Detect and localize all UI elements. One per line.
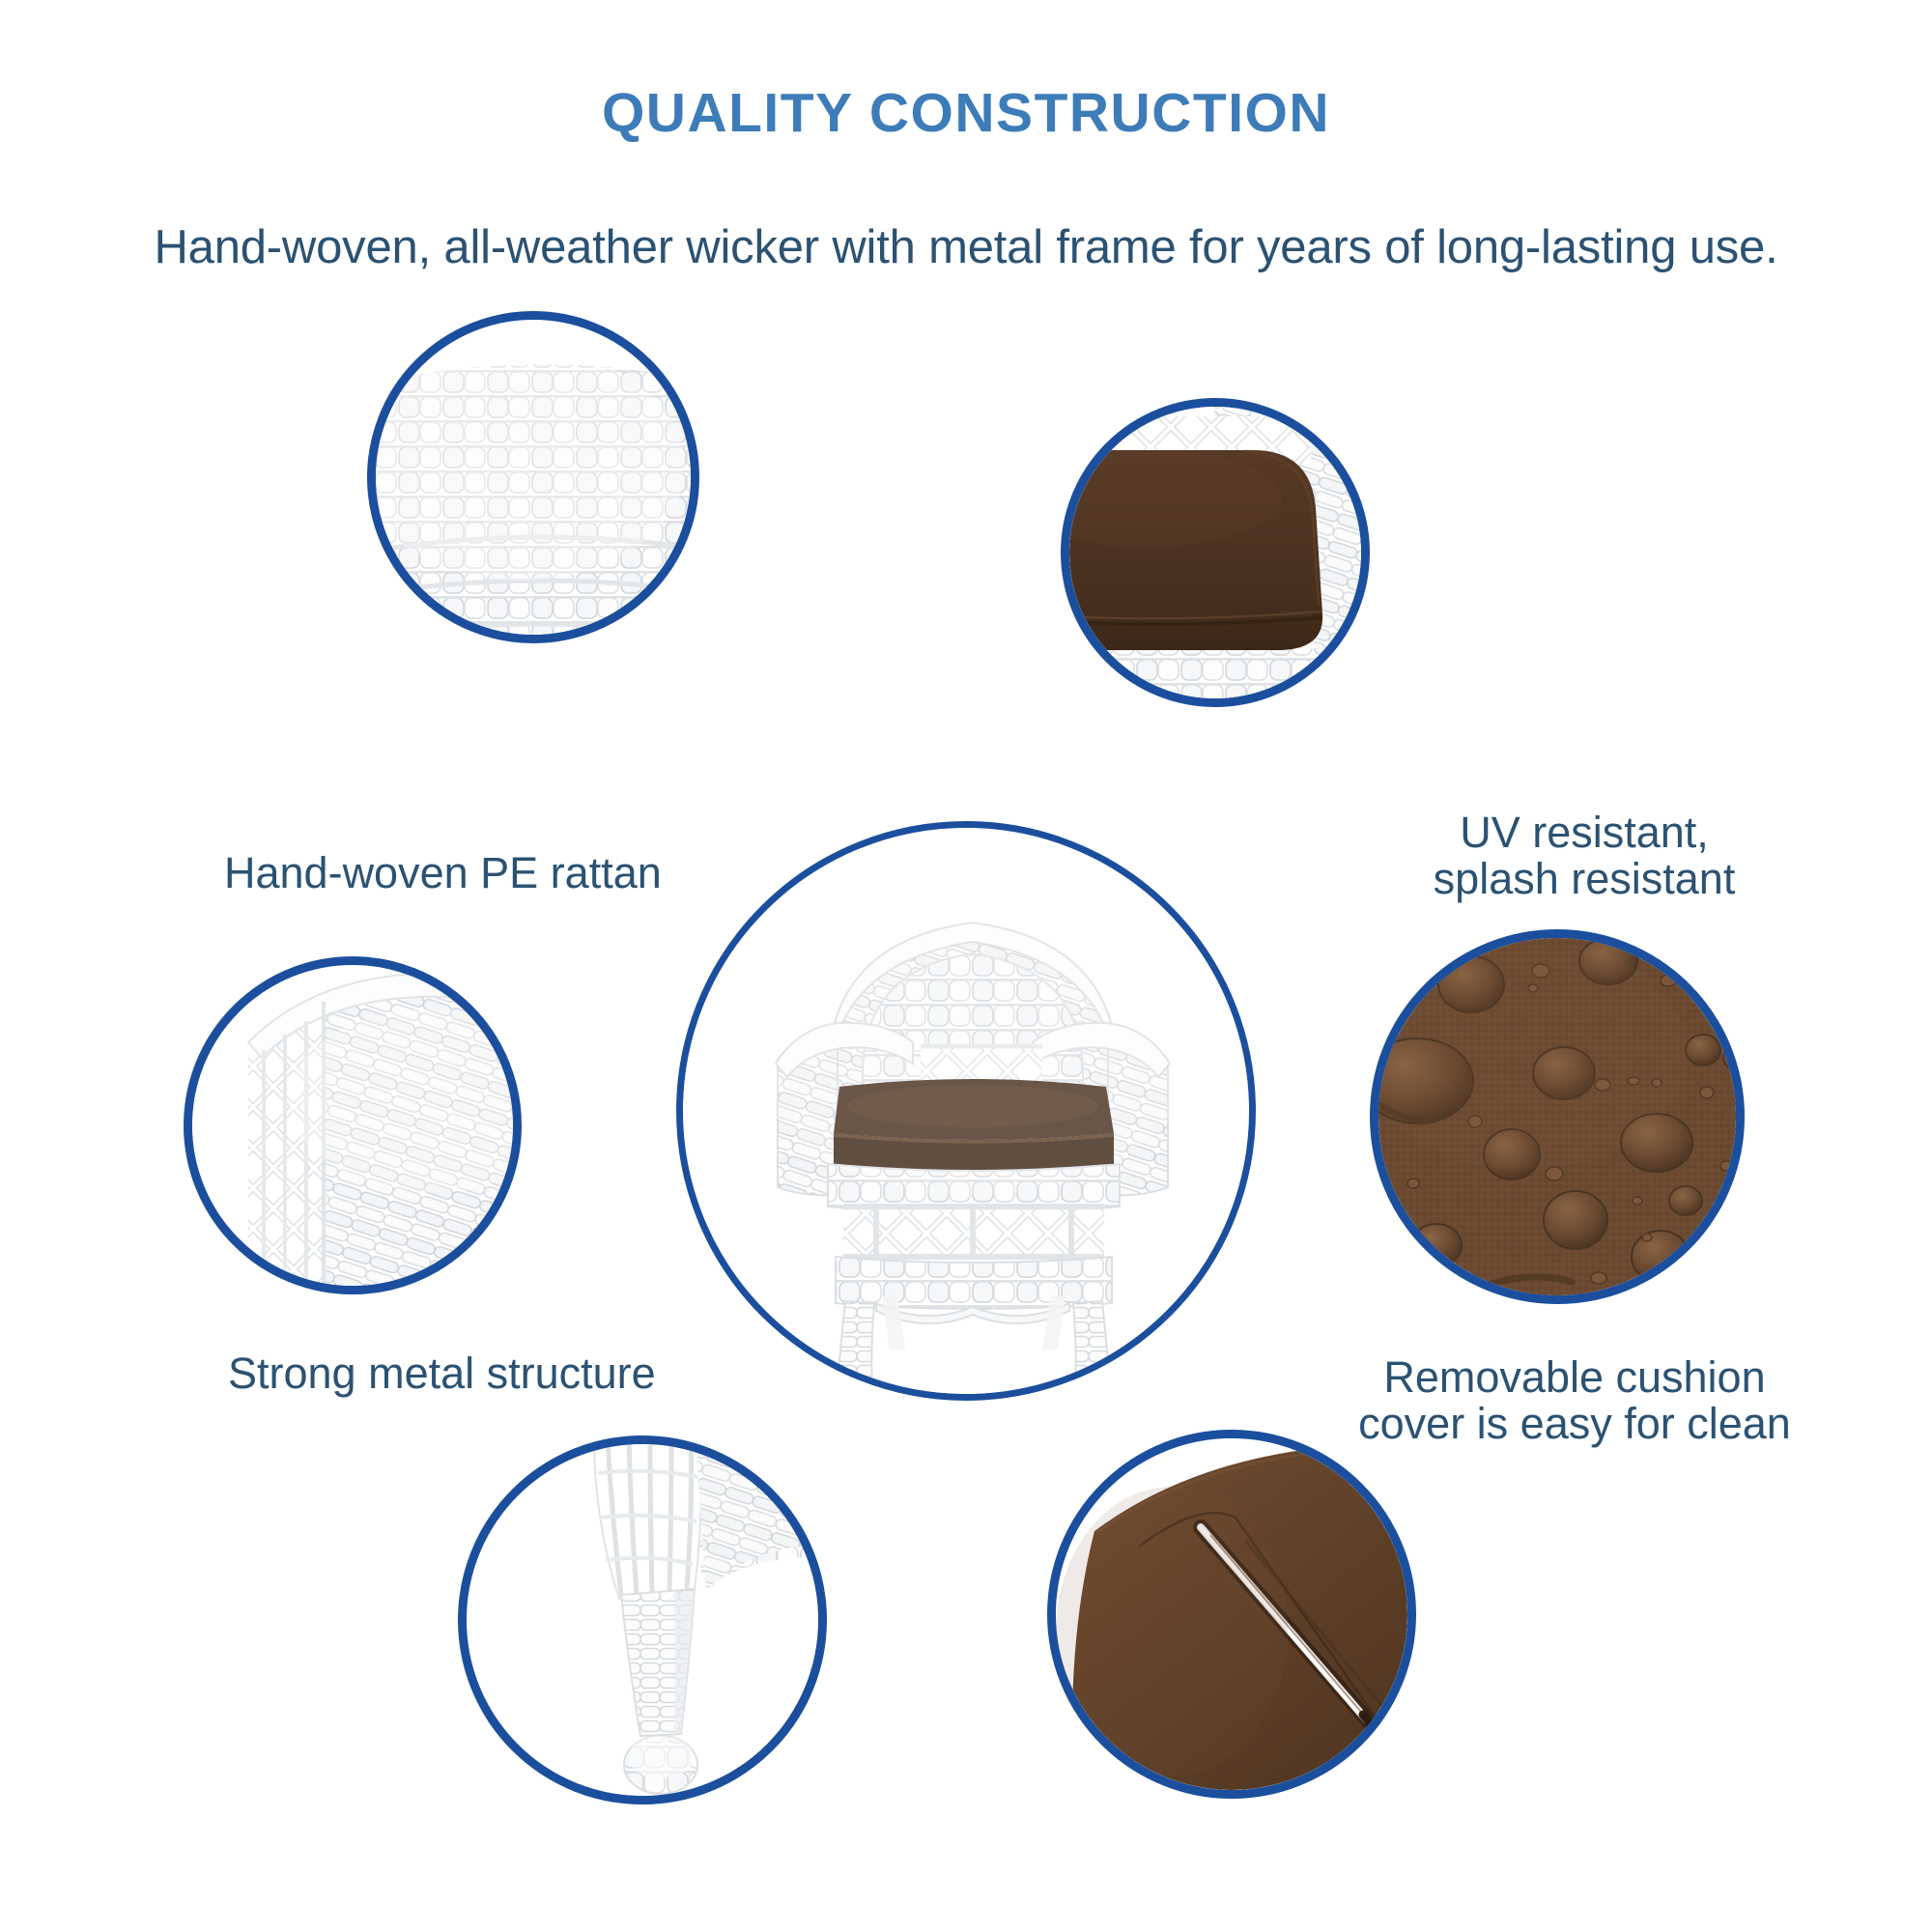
caption-hand-woven-pe-rattan: Hand-woven PE rattan [224,850,726,896]
caption-uv-splash-resistant: UV resistant, splash resistant [1381,810,1787,901]
water-droplets-image [1378,938,1736,1295]
chair-arm-corner-image [192,965,513,1286]
feature-circle-cushion-cover-zipper[interactable] [1047,1430,1416,1799]
feature-circle-strong-metal-structure[interactable] [184,956,522,1294]
wicker-weave-image [376,320,691,635]
infographic-page: QUALITY CONSTRUCTION Hand-woven, all-wea… [0,0,1932,1932]
caption-removable-cushion-cover: Removable cushion cover is easy for clea… [1333,1354,1816,1446]
feature-circle-removable-cushion-cover[interactable] [1370,929,1745,1304]
zipper-closeup-image [1056,1438,1407,1790]
feature-circle-uv-splash-resistant[interactable] [1061,398,1370,707]
wicker-chair-image [683,828,1249,1394]
feature-circle-product-hero[interactable] [676,821,1256,1401]
feature-circle-hand-woven-pe-rattan[interactable] [367,311,699,643]
page-title: QUALITY CONSTRUCTION [0,81,1932,145]
feature-circle-chair-leg-detail[interactable] [458,1435,827,1804]
chair-leg-image [467,1444,818,1796]
cushion-closeup-image [1069,407,1361,698]
caption-strong-metal-structure: Strong metal structure [228,1350,769,1397]
page-subtitle: Hand-woven, all-weather wicker with meta… [0,220,1932,274]
